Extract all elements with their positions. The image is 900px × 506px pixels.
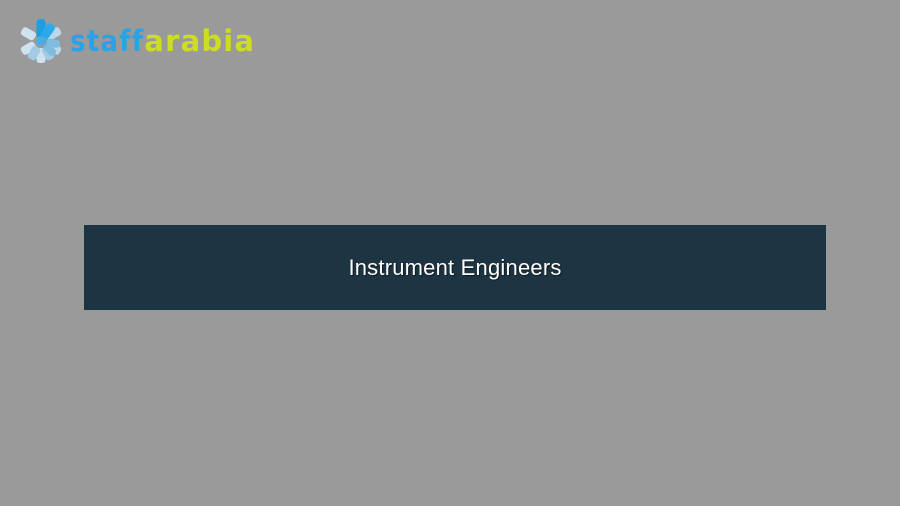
page-title: Instrument Engineers [348,255,561,281]
slide-canvas: staffarabia Instrument Engineers [0,0,900,506]
brand-logo[interactable]: staffarabia [18,16,268,66]
brand-wordmark: staffarabia [70,27,255,56]
wordmark-staff: staff [70,27,144,56]
snowflake-starburst-icon [18,18,64,64]
title-banner: Instrument Engineers [84,225,826,310]
wordmark-arabia: arabia [144,27,255,56]
